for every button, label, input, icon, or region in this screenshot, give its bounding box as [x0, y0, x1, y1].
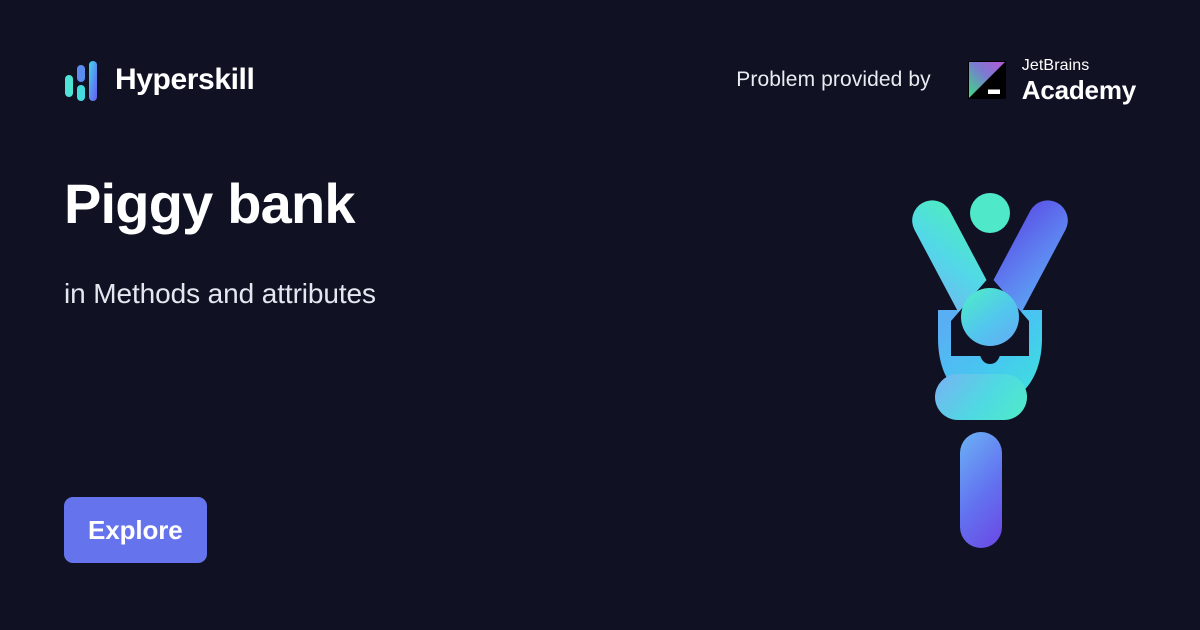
provided-by-group: Problem provided by: [736, 58, 1136, 103]
brand-name: Hyperskill: [115, 65, 254, 95]
provided-by-label: Problem provided by: [736, 68, 931, 92]
jetbrains-square-icon: [968, 61, 1006, 99]
emblem-vertical-pill: [960, 432, 1002, 548]
card-header: Hyperskill Problem provided by: [64, 52, 1136, 108]
emblem-center-dot: [961, 288, 1019, 346]
explore-button[interactable]: Explore: [64, 497, 207, 563]
academy-name: Academy: [1022, 77, 1136, 103]
hyperskill-bars-icon: [64, 59, 98, 101]
jetbrains-academy-wordmark: JetBrains Academy: [1022, 58, 1136, 103]
hyperskill-a-emblem-icon: [890, 170, 1090, 570]
page-title: Piggy bank: [64, 172, 355, 236]
jetbrains-academy-logo[interactable]: JetBrains Academy: [968, 58, 1136, 103]
hyperskill-brand[interactable]: Hyperskill: [64, 59, 254, 101]
share-card: Hyperskill Problem provided by: [0, 0, 1200, 630]
topic-subtitle: in Methods and attributes: [64, 277, 376, 311]
emblem-apex: [970, 193, 1010, 233]
jetbrains-name: JetBrains: [1022, 58, 1136, 74]
emblem-horizontal-pill: [935, 374, 1027, 420]
